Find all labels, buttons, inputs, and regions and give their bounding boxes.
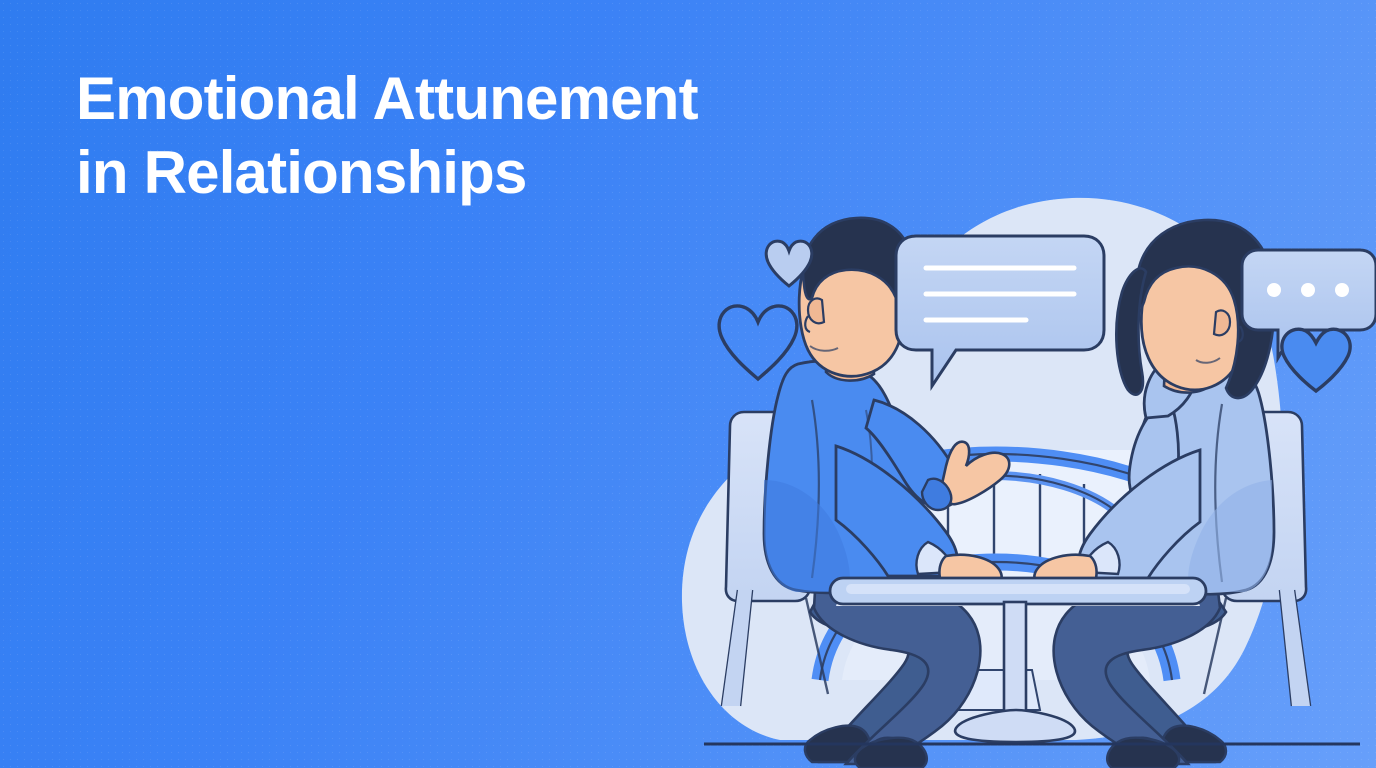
illustration-two-people-conversation <box>660 150 1376 768</box>
heart-filled-right <box>1282 329 1350 391</box>
page-title-line-1: Emotional Attunement <box>76 62 896 136</box>
hero-banner: Emotional Attunement in Relationships <box>0 0 1376 768</box>
heart-outline-left <box>719 306 797 379</box>
